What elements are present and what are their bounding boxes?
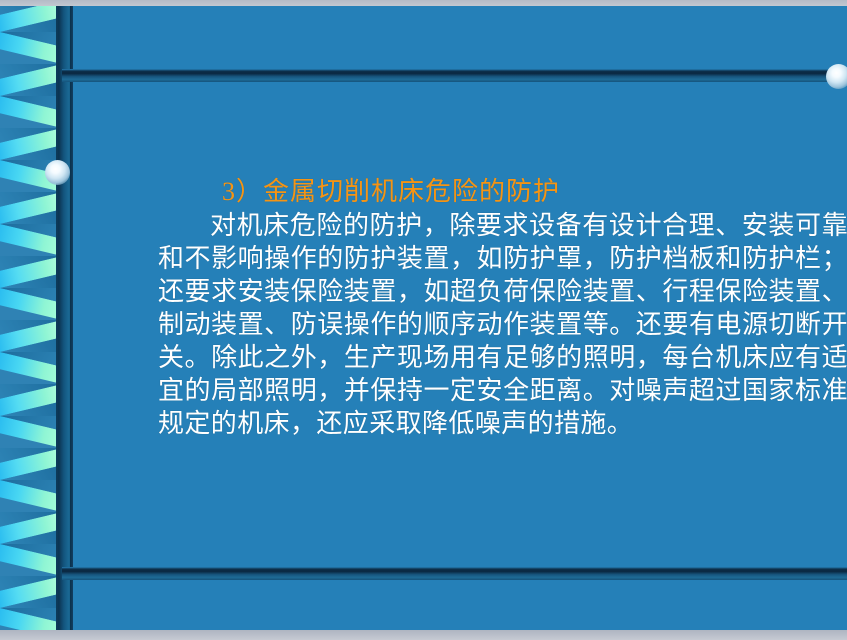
glow-sphere-left-icon <box>45 160 70 185</box>
top-rail-nub <box>44 70 66 82</box>
presentation-slide: 3）金属切削机床危险的防护 对机床危险的防护，除要求设备有设计合理、安装可靠和不… <box>0 0 847 640</box>
slide-content-area: 3）金属切削机床危险的防护 对机床危险的防护，除要求设备有设计合理、安装可靠和不… <box>72 82 847 567</box>
bottom-edge-band <box>0 630 847 640</box>
left-ribbon-decoration <box>0 0 62 640</box>
glow-sphere-right-icon <box>826 64 847 89</box>
slide-heading: 3）金属切削机床危险的防护 <box>222 175 560 209</box>
bottom-rail-nub <box>44 568 66 580</box>
top-frame-rail <box>62 69 847 82</box>
bottom-frame-rail <box>62 567 847 580</box>
top-edge-band <box>0 0 847 6</box>
slide-body-paragraph: 对机床危险的防护，除要求设备有设计合理、安装可靠和不影响操作的防护装置，如防护罩… <box>158 209 847 440</box>
